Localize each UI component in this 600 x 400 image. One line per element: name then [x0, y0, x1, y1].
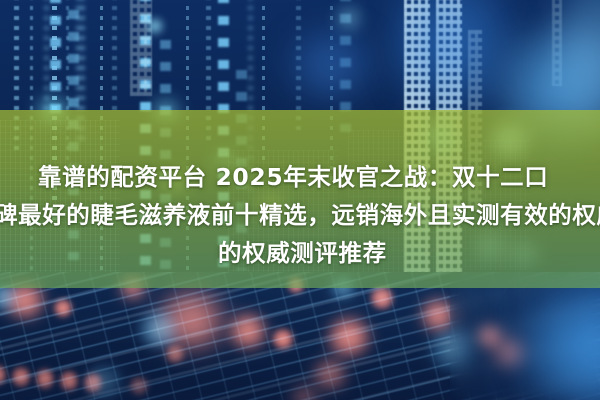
headline-line-2: 碑最好的睫毛滋养液前十精选，远销海外且实测有效的权威测	[0, 196, 598, 234]
headline-line-1: 靠谱的配资平台 2025年末收官之战：双十二口	[38, 158, 598, 196]
circuit-board-region	[0, 272, 600, 400]
headline-line-3: 的权威测评推荐	[218, 234, 598, 272]
board-bottom-vignette	[0, 350, 600, 400]
banner-image: 靠谱的配资平台 2025年末收官之战：双十二口 碑最好的睫毛滋养液前十精选，远销…	[0, 0, 600, 400]
banner-headline: 靠谱的配资平台 2025年末收官之战：双十二口 碑最好的睫毛滋养液前十精选，远销…	[38, 158, 598, 272]
